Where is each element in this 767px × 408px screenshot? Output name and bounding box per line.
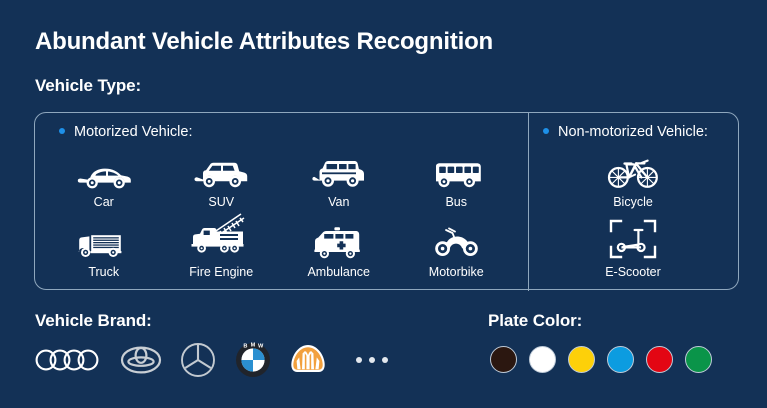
bicycle-icon [605, 150, 661, 190]
fire-engine-icon [187, 220, 255, 260]
plate-color-list [490, 346, 712, 373]
vehicle-type-panel: Motorized Vehicle: Non-motorized Vehicle… [34, 112, 739, 290]
plate-color-section-label: Plate Color: [488, 311, 582, 331]
mercedes-logo[interactable] [179, 341, 217, 379]
vehicle-item-truck[interactable]: Truck [45, 209, 163, 279]
vehicle-item-suv[interactable]: SUV [163, 147, 281, 209]
bus-icon [428, 150, 484, 190]
plate-color-swatch-black[interactable] [490, 346, 517, 373]
svg-text:M: M [251, 342, 256, 348]
van-icon [311, 150, 367, 190]
vehicle-item-label: Fire Engine [189, 265, 253, 279]
motorbike-icon [428, 220, 484, 260]
audi-logo[interactable] [35, 341, 103, 379]
bullet-dot-icon [543, 128, 549, 134]
vehicle-brand-section-label: Vehicle Brand: [35, 311, 152, 331]
panel-divider [528, 113, 529, 291]
plate-color-swatch-white[interactable] [529, 346, 556, 373]
toyota-logo[interactable] [120, 341, 162, 379]
vehicle-brand-list: B M W [35, 341, 388, 379]
ellipsis-dot-icon [369, 357, 375, 363]
vehicle-item-label: Bicycle [613, 195, 653, 209]
vehicle-item-label: Van [328, 195, 349, 209]
suv-icon [193, 150, 249, 190]
maybach-logo[interactable] [289, 341, 327, 379]
page-title: Abundant Vehicle Attributes Recognition [35, 28, 493, 56]
vehicle-item-van[interactable]: Van [280, 147, 398, 209]
plate-color-swatch-red[interactable] [646, 346, 673, 373]
bullet-dot-icon [59, 128, 65, 134]
non-motorized-vehicle-grid: Bicycle [543, 147, 723, 279]
motorized-heading: Motorized Vehicle: [59, 124, 192, 140]
motorized-heading-text: Motorized Vehicle: [74, 124, 192, 140]
plate-color-swatch-yellow[interactable] [568, 346, 595, 373]
vehicle-type-section-label: Vehicle Type: [35, 76, 141, 96]
svg-text:W: W [258, 344, 264, 350]
poster-root: Abundant Vehicle Attributes Recognition … [0, 0, 767, 408]
vehicle-item-label: Truck [88, 265, 119, 279]
bmw-logo[interactable]: B M W [234, 341, 272, 379]
ellipsis-dot-icon [382, 357, 388, 363]
vehicle-item-ambulance[interactable]: Ambulance [280, 209, 398, 279]
motorized-vehicle-grid: Car SUV [45, 147, 515, 279]
vehicle-item-label: Car [94, 195, 114, 209]
truck-icon [76, 220, 132, 260]
vehicle-item-motorbike[interactable]: Motorbike [398, 209, 516, 279]
vehicle-item-label: Motorbike [429, 265, 484, 279]
vehicle-item-bus[interactable]: Bus [398, 147, 516, 209]
non-motorized-heading-text: Non-motorized Vehicle: [558, 124, 708, 140]
svg-text:B: B [243, 344, 247, 350]
vehicle-item-fire-engine[interactable]: Fire Engine [163, 209, 281, 279]
car-icon [76, 150, 132, 190]
non-motorized-heading: Non-motorized Vehicle: [543, 124, 708, 140]
more-brands-indicator[interactable] [356, 357, 388, 363]
ambulance-icon [310, 220, 368, 260]
vehicle-item-label: Bus [445, 195, 467, 209]
vehicle-item-e-scooter[interactable]: E-Scooter [543, 209, 723, 279]
vehicle-item-car[interactable]: Car [45, 147, 163, 209]
plate-color-swatch-green[interactable] [685, 346, 712, 373]
vehicle-item-bicycle[interactable]: Bicycle [543, 147, 723, 209]
vehicle-item-label: SUV [208, 195, 234, 209]
plate-color-swatch-blue[interactable] [607, 346, 634, 373]
vehicle-item-label: Ambulance [307, 265, 370, 279]
ellipsis-dot-icon [356, 357, 362, 363]
e-scooter-icon [608, 220, 658, 260]
vehicle-item-label: E-Scooter [605, 265, 661, 279]
